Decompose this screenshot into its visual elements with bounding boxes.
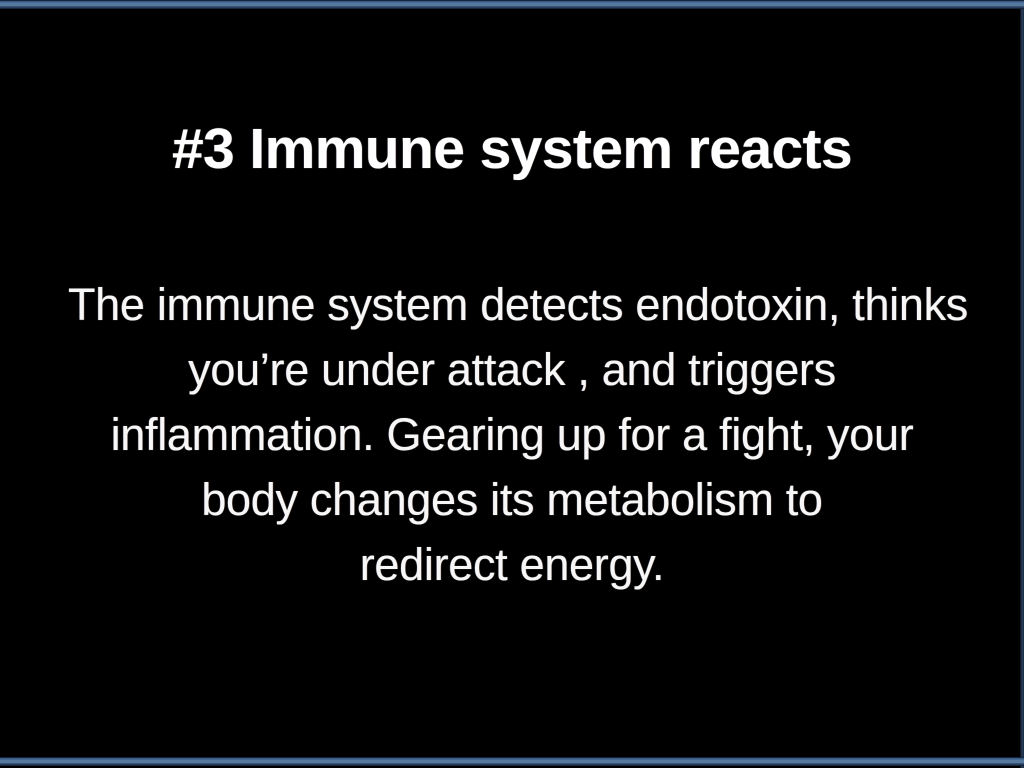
slide-body-text: The immune system detects endotoxin, thi… <box>0 272 1024 597</box>
bottom-accent-bar <box>0 757 1024 766</box>
body-line: The immune system detects endotoxin, thi… <box>0 272 1024 337</box>
slide-title: #3 Immune system reacts <box>0 116 1024 182</box>
body-line: redirect energy. <box>0 532 1024 597</box>
left-accent-edge <box>0 0 4 768</box>
body-line: inflammation. Gearing up for a fight, yo… <box>0 402 1024 467</box>
presentation-slide: #3 Immune system reacts The immune syste… <box>0 0 1024 768</box>
body-line: body changes its metabolism to <box>0 467 1024 532</box>
slide-content: #3 Immune system reacts The immune syste… <box>0 0 1024 768</box>
right-accent-edge <box>1020 0 1024 768</box>
top-accent-bar <box>0 0 1024 9</box>
body-line: you’re under attack , and triggers <box>0 337 1024 402</box>
